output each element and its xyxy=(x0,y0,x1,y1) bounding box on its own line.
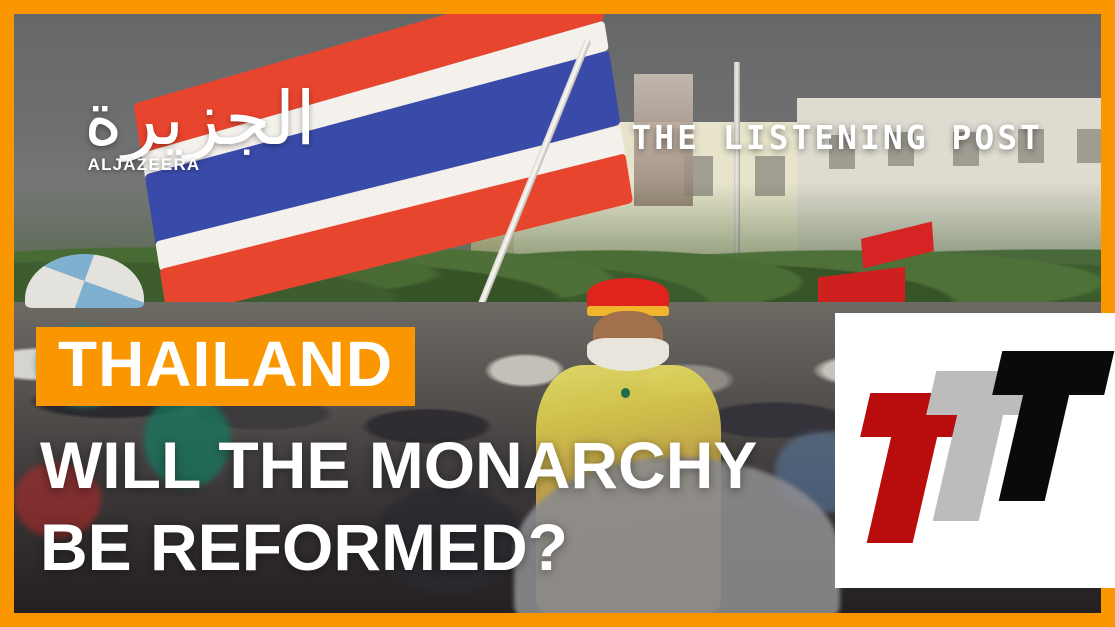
kicker-label: THAILAND xyxy=(58,333,393,396)
kicker-badge: THAILAND xyxy=(36,327,415,406)
window xyxy=(1077,129,1101,163)
show-title: THE LISTENING POST xyxy=(631,118,1043,157)
video-thumbnail: الجزيرة ALJAZEERA THE LISTENING POST THA… xyxy=(0,0,1115,627)
headline-line-1: WILL THE MONARCHY xyxy=(40,432,757,498)
aljazeera-calligraphy-icon: الجزيرة xyxy=(84,86,204,153)
headline-line-2: BE REFORMED? xyxy=(40,514,568,580)
aljazeera-logo: الجزيرة ALJAZEERA xyxy=(84,86,204,175)
aljazeera-wordmark: ALJAZEERA xyxy=(84,155,204,175)
trt-logo xyxy=(835,313,1115,588)
